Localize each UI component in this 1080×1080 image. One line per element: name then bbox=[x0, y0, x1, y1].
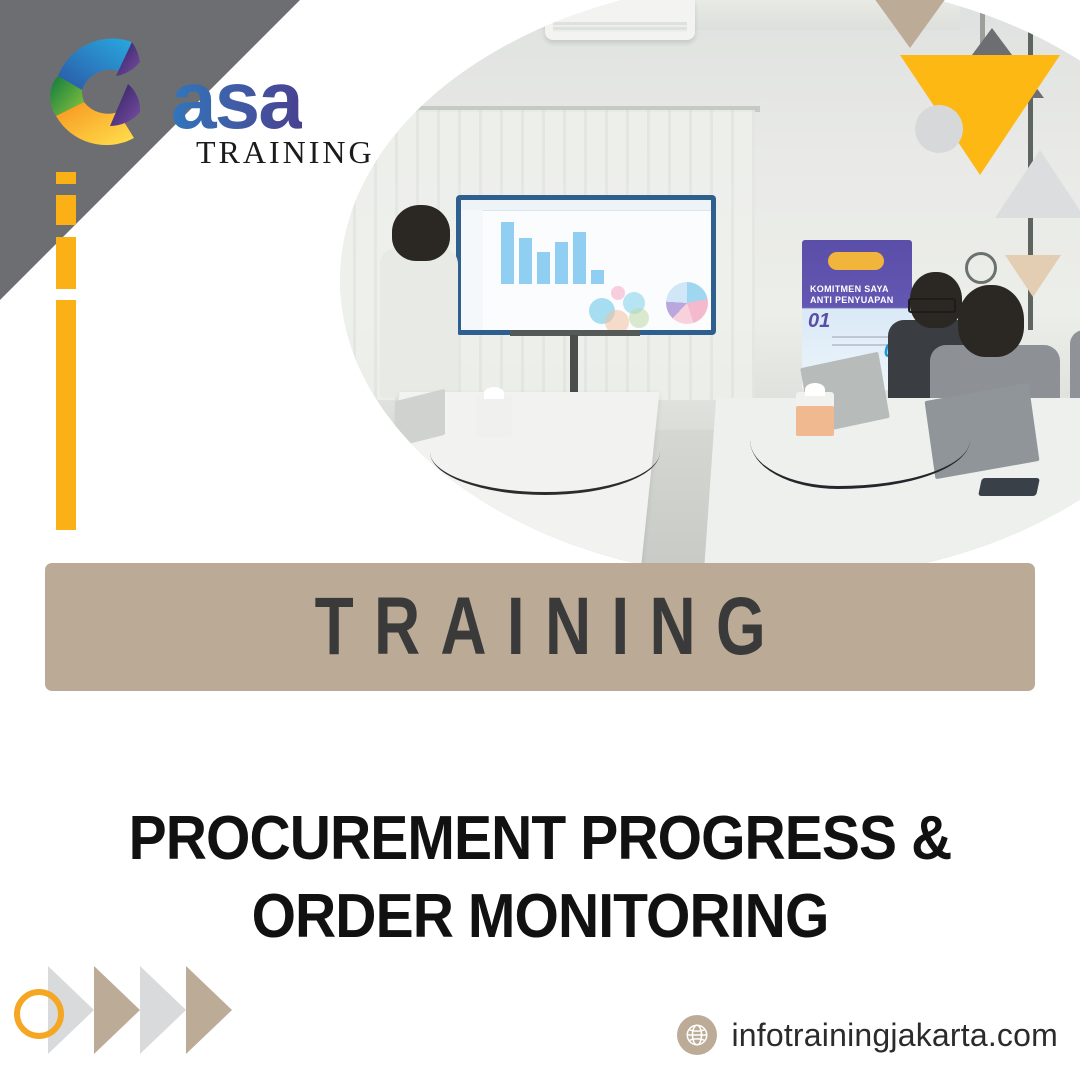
phone-on-table bbox=[978, 478, 1040, 496]
poster-heading: KOMITMEN SAYA ANTI PENYUAPAN bbox=[810, 284, 894, 306]
title-line-1: PROCUREMENT PROGRESS & bbox=[98, 800, 981, 878]
yellow-dash-2 bbox=[56, 195, 76, 225]
website-url: infotrainingjakarta.com bbox=[731, 1017, 1058, 1054]
presentation-display bbox=[456, 195, 716, 335]
chevron-3 bbox=[140, 966, 186, 1054]
logo-subtitle: TRAINING bbox=[196, 134, 375, 171]
training-banner: TRAINING bbox=[45, 563, 1035, 691]
hanging-ring bbox=[965, 252, 997, 284]
poster-badge bbox=[828, 252, 884, 270]
dashboard-bubble-chart bbox=[589, 284, 659, 330]
website-footer[interactable]: infotrainingjakarta.com bbox=[677, 1015, 1058, 1055]
brand-logo[interactable]: asa TRAINING bbox=[36, 24, 366, 174]
title-line-2: ORDER MONITORING bbox=[98, 878, 981, 956]
presenter-body bbox=[380, 248, 458, 398]
circular-swirl-logo-icon bbox=[36, 28, 186, 168]
dashboard-bar-chart bbox=[501, 222, 604, 284]
globe-icon bbox=[677, 1015, 717, 1055]
dashboard-pie-chart bbox=[666, 282, 708, 324]
presenter-head bbox=[392, 205, 450, 261]
chevron-2 bbox=[94, 966, 140, 1054]
poster-canvas: KOMITMEN SAYA ANTI PENYUAPAN 01 02 bbox=[0, 0, 1080, 1080]
training-banner-label: TRAINING bbox=[294, 580, 786, 674]
air-conditioner bbox=[545, 0, 695, 40]
tan-triangle-small bbox=[1005, 255, 1061, 297]
chevron-decoration bbox=[10, 966, 210, 1066]
poster-step-1: 01 bbox=[808, 310, 830, 333]
yellow-dash-4 bbox=[56, 300, 76, 530]
gray-circle bbox=[915, 105, 963, 153]
light-gray-triangle bbox=[995, 150, 1080, 218]
poster-line-1: KOMITMEN SAYA bbox=[810, 284, 889, 294]
orange-ring-icon bbox=[14, 989, 64, 1039]
tissue-box-front bbox=[476, 395, 512, 437]
poster-line-2: ANTI PENYUAPAN bbox=[810, 295, 894, 305]
participant-2-glasses bbox=[908, 298, 956, 313]
page-title: PROCUREMENT PROGRESS & ORDER MONITORING bbox=[60, 800, 1020, 956]
tissue-box-back bbox=[796, 392, 834, 436]
chevron-4 bbox=[186, 966, 232, 1054]
yellow-dash-3 bbox=[56, 237, 76, 289]
